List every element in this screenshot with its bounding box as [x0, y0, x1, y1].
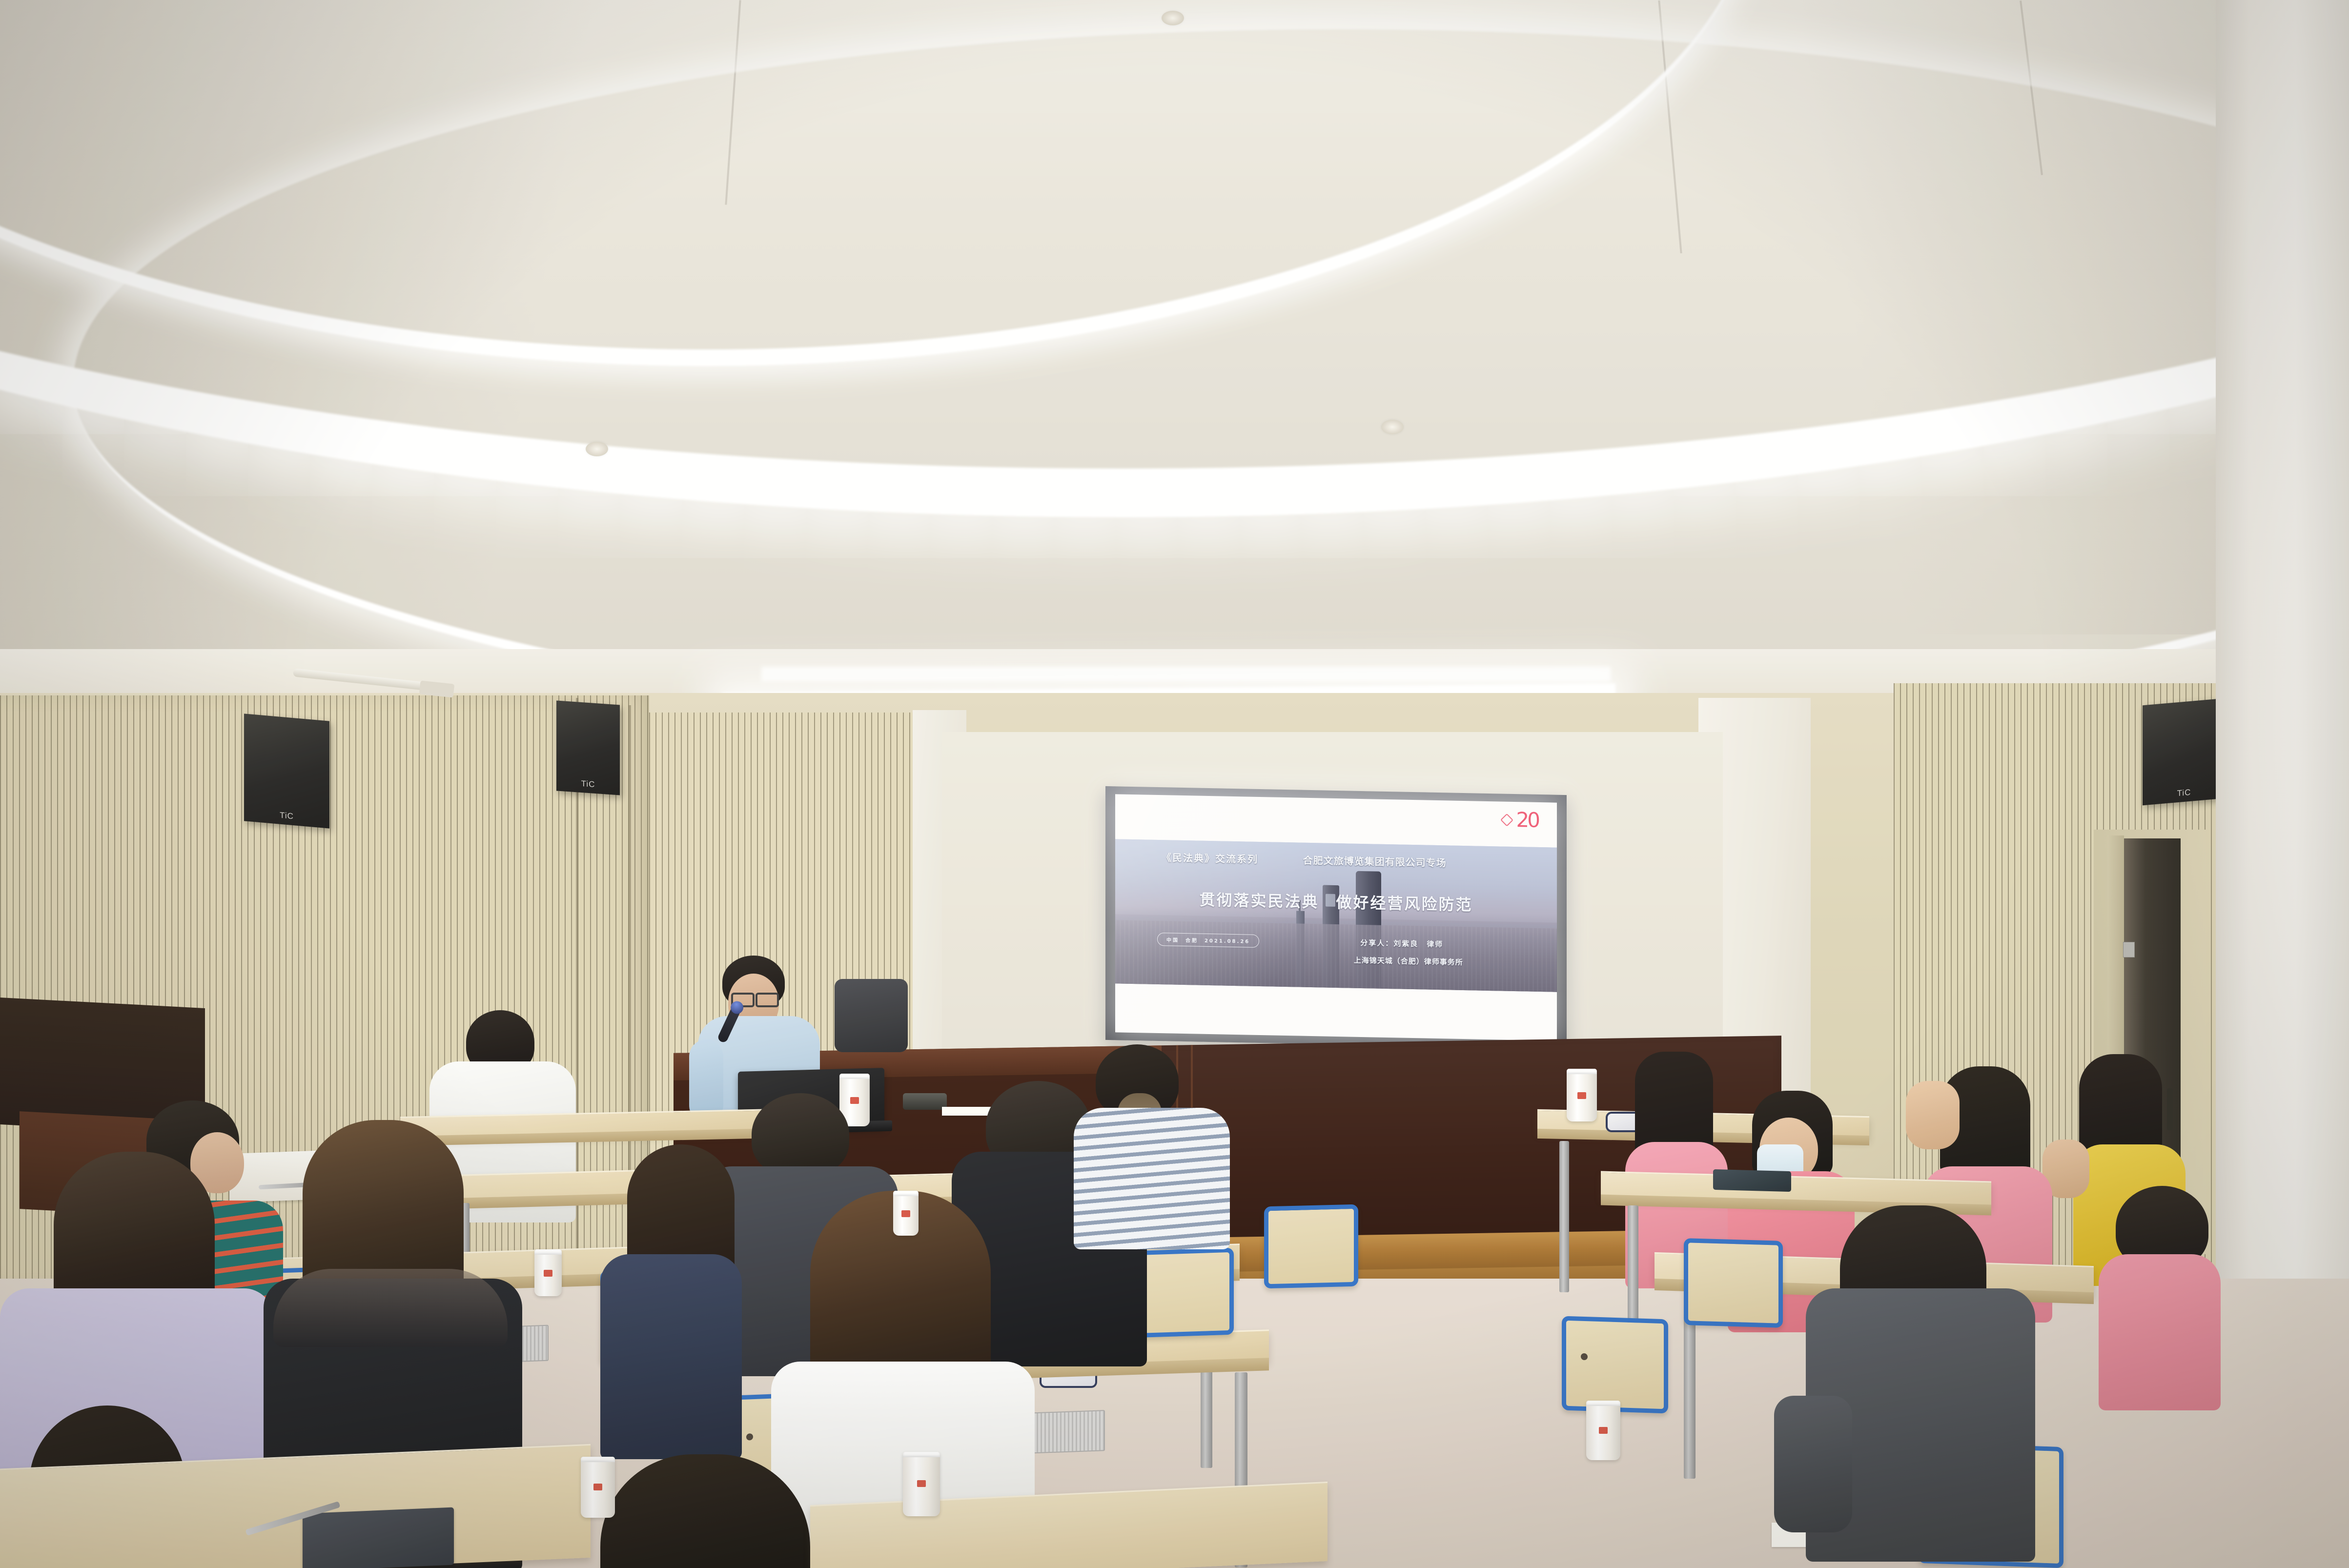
- cup-lip: [534, 1249, 562, 1255]
- ceiling-downlight: [586, 442, 608, 456]
- door-handle[interactable]: [2167, 1088, 2173, 1130]
- diamond-icon: [1500, 813, 1513, 826]
- attendee-top: [2099, 1254, 2221, 1410]
- attendee-top: [1074, 1108, 1230, 1249]
- paper-cup[interactable]: [534, 1249, 562, 1296]
- paper-cup[interactable]: [581, 1457, 615, 1518]
- notebook[interactable]: [303, 1507, 454, 1568]
- chair-back[interactable]: [1562, 1316, 1668, 1414]
- chair-back[interactable]: [1264, 1204, 1358, 1289]
- paper-cup[interactable]: [1586, 1401, 1620, 1460]
- attendee-arm: [1774, 1396, 1852, 1532]
- attendee-lace-shoulder: [273, 1269, 508, 1347]
- lecture-hall-scene: TiC TiC TiC 20 《: [0, 0, 2349, 1568]
- cup-lip: [1586, 1401, 1620, 1406]
- slide-series-label: 《民法典》交流系列: [1162, 850, 1258, 866]
- presenter-chair-back: [835, 979, 908, 1052]
- wall-speaker-left: TiC: [244, 713, 329, 828]
- projection-screen: 20 《民法典》交流系列 合肥文旅博览集团有限公司专场 贯彻落实民法典 做好经营…: [1115, 794, 1557, 1040]
- slide-logo-text: 20: [1516, 813, 1538, 828]
- paper-cup[interactable]: [893, 1191, 919, 1236]
- chair-back[interactable]: [1132, 1248, 1234, 1338]
- ceiling-downlight: [1162, 11, 1184, 25]
- wall-speaker-right: TiC: [2143, 698, 2226, 806]
- speaker-brand-mark: TiC: [581, 779, 595, 790]
- slide-firm-line: 上海锦天城（合肥）律师事务所: [1354, 955, 1463, 967]
- door-hinge: [2123, 942, 2135, 957]
- cup-lip: [839, 1074, 870, 1079]
- chair-screw: [1581, 1353, 1588, 1360]
- slide-session-label: 合肥文旅博览集团有限公司专场: [1303, 853, 1447, 870]
- desk-equipment: [903, 1093, 947, 1110]
- slide-photo-cityscape: [1115, 920, 1557, 992]
- attendee-raised-arm: [1906, 1081, 1960, 1149]
- presenter-glasses-right: [756, 993, 779, 1007]
- wall-speaker-left-inner: TiC: [556, 700, 620, 795]
- attendee-hair: [752, 1093, 849, 1176]
- chair-screw: [746, 1433, 753, 1441]
- cup-lip: [1567, 1069, 1597, 1074]
- slide-logo: 20: [1502, 813, 1538, 828]
- ceiling: [0, 0, 2349, 732]
- chair-back[interactable]: [1684, 1238, 1783, 1328]
- speaker-brand-mark: TiC: [2177, 788, 2191, 799]
- cup-lip: [893, 1191, 919, 1196]
- tablet[interactable]: [1713, 1169, 1791, 1192]
- slide-location-badge: 中国 合肥 2021.08.26: [1157, 933, 1259, 948]
- slide-presenter-line: 分享人：刘紫良 律师: [1360, 937, 1443, 949]
- presentation-slide: 20 《民法典》交流系列 合肥文旅博览集团有限公司专场 贯彻落实民法典 做好经营…: [1115, 794, 1557, 1040]
- attendee-top: [600, 1254, 742, 1459]
- paper-cup[interactable]: [1567, 1069, 1597, 1121]
- stage-light-band-glow: [761, 667, 1611, 681]
- ceiling-downlight: [1381, 420, 1404, 434]
- paper-cup[interactable]: [903, 1452, 940, 1516]
- cup-lip: [903, 1452, 940, 1457]
- speaker-brand-mark: TiC: [280, 811, 294, 822]
- cup-lip: [581, 1457, 615, 1462]
- desk-leg: [1559, 1141, 1569, 1292]
